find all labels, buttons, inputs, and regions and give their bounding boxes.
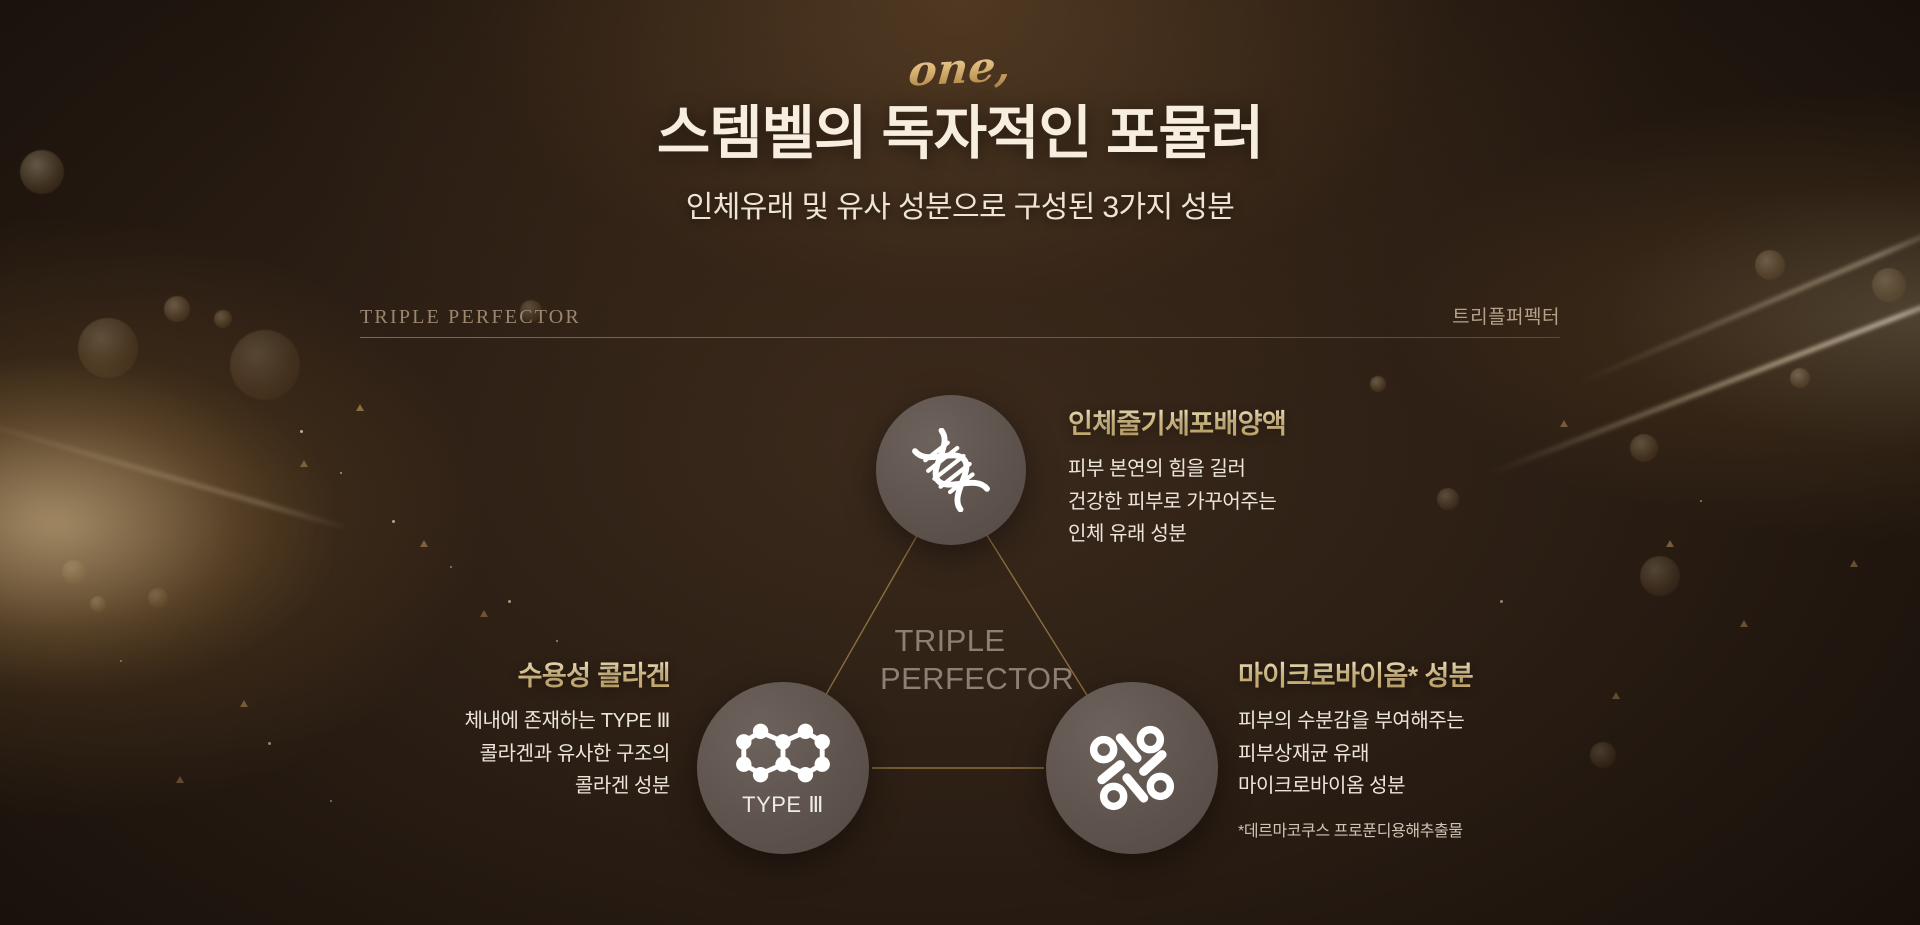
collagen-line-3: 콜라겐 성분 [386,770,670,802]
text-block-stemcell: 인체줄기세포배양액 피부 본연의 힘을 길러 건강한 피부로 가꾸어주는 인체 … [1068,408,1286,551]
collagen-type-badge: TYPE Ⅲ [742,792,824,818]
node-stemcell[interactable] [876,395,1026,545]
stemcell-line-3: 인체 유래 성분 [1068,518,1286,550]
microbiome-line-3: 마이크로바이옴 성분 [1238,770,1473,802]
center-label-line1: TRIPLE [880,622,1020,660]
node-collagen[interactable]: TYPE Ⅲ [697,682,869,854]
stemcell-line-2: 건강한 피부로 가꾸어주는 [1068,486,1286,518]
microbiome-description: 피부의 수분감을 부여해주는 피부상재균 유래 마이크로바이옴 성분 [1238,705,1473,802]
microbiome-footnote: *데르마코쿠스 프로푼디용해추출물 [1238,817,1473,841]
stemcell-description: 피부 본연의 힘을 길러 건강한 피부로 가꾸어주는 인체 유래 성분 [1068,453,1286,550]
text-block-microbiome: 마이크로바이옴* 성분 피부의 수분감을 부여해주는 피부상재균 유래 마이크로… [1238,660,1473,841]
microbiome-line-1: 피부의 수분감을 부여해주는 [1238,705,1473,737]
dna-helix-icon [909,428,993,512]
molecule-hexagon-icon [727,718,839,788]
center-label-line2: PERFECTOR [880,660,1020,698]
collagen-line-2: 콜라겐과 유사한 구조의 [386,738,670,770]
microbiome-line-2: 피부상재균 유래 [1238,738,1473,770]
collagen-line-1: 체내에 존재하는 TYPE Ⅲ [386,705,670,737]
promo-section: one, 스템벨의 독자적인 포뮬러 인체유래 및 유사 성분으로 구성된 3가… [0,0,1920,925]
node-microbiome[interactable] [1046,682,1218,854]
stemcell-title: 인체줄기세포배양액 [1068,408,1286,440]
collagen-description: 체내에 존재하는 TYPE Ⅲ 콜라겐과 유사한 구조의 콜라겐 성분 [386,705,670,802]
microbiome-title: 마이크로바이옴* 성분 [1238,660,1473,692]
stemcell-line-1: 피부 본연의 힘을 길러 [1068,453,1286,485]
diagram-center-label: TRIPLE PERFECTOR [880,622,1020,698]
triple-perfector-diagram: TRIPLE PERFECTOR [0,0,1920,925]
text-block-collagen: 수용성 콜라겐 체내에 존재하는 TYPE Ⅲ 콜라겐과 유사한 구조의 콜라겐… [386,660,670,803]
microbiome-icon [1082,718,1182,818]
collagen-title: 수용성 콜라겐 [386,660,670,692]
